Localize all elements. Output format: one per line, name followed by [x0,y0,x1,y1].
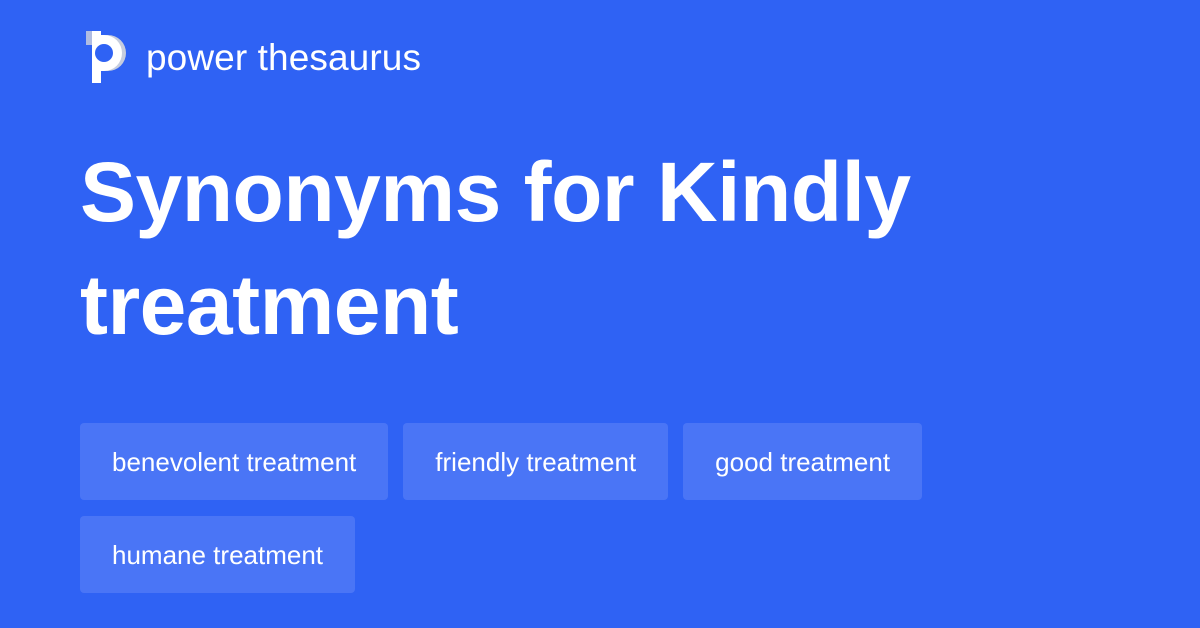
brand-name: power thesaurus [146,39,421,76]
og-card: power thesaurus Synonyms for Kindly trea… [0,0,1200,628]
synonym-chip[interactable]: good treatment [683,423,922,500]
brand-header[interactable]: power thesaurus [82,28,421,86]
synonym-chip[interactable]: humane treatment [80,516,355,593]
power-thesaurus-b-mark-icon [82,31,126,83]
synonym-chip[interactable]: friendly treatment [403,423,668,500]
page-title: Synonyms for Kindly treatment [80,136,1120,361]
synonym-chip[interactable]: benevolent treatment [80,423,388,500]
synonym-chip-list: benevolent treatment friendly treatment … [80,423,1140,593]
